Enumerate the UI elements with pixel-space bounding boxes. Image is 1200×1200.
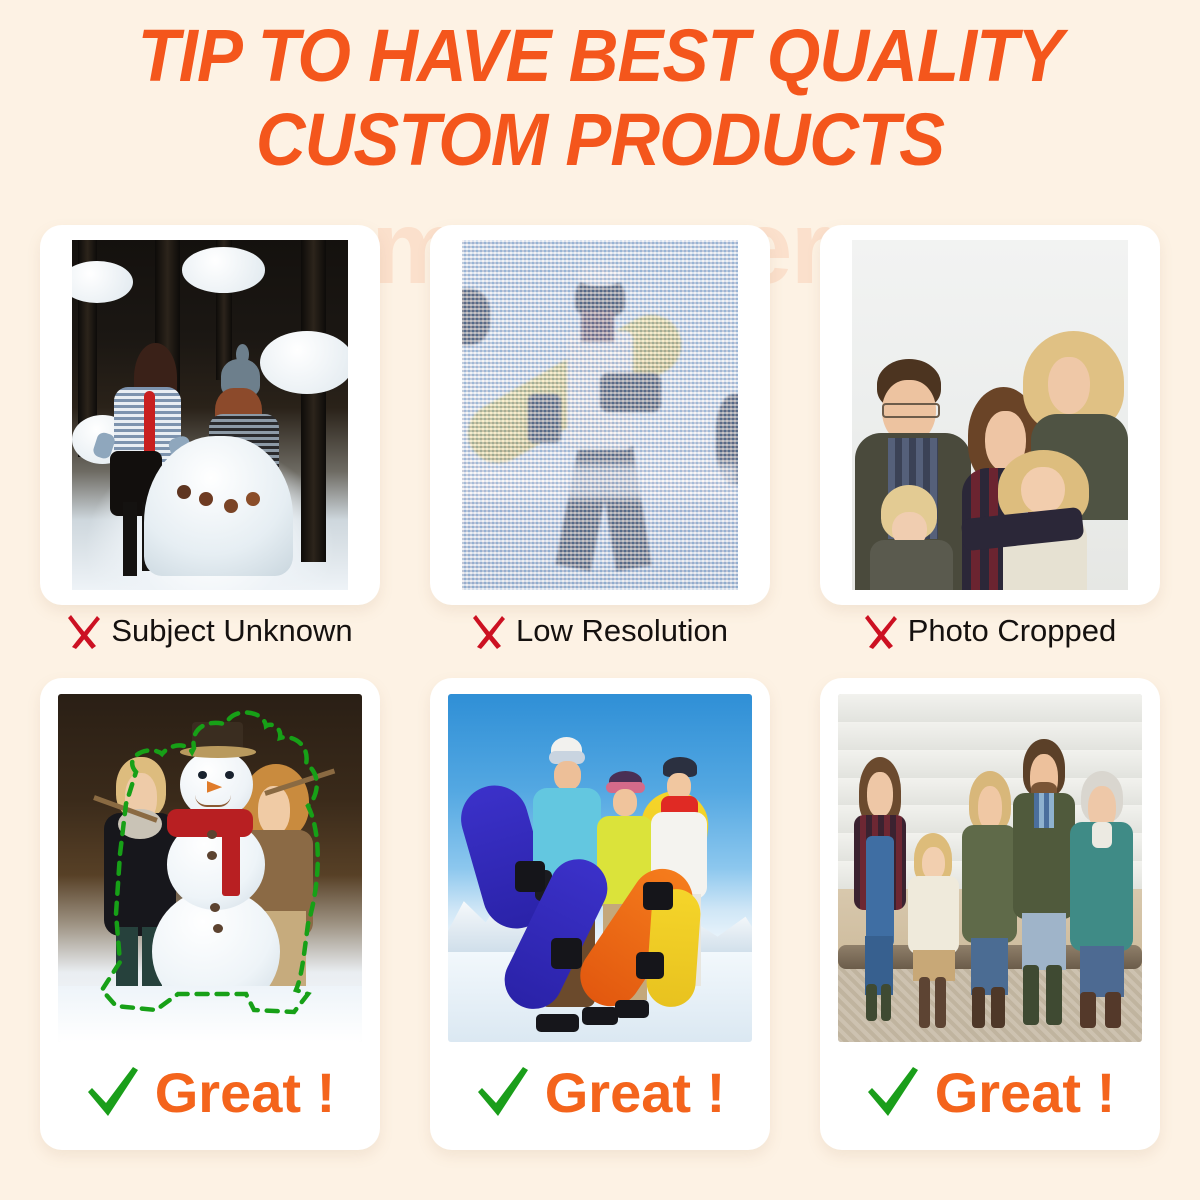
good-label-snowboarders: Great ! [430, 1050, 770, 1134]
label-text: Low Resolution [516, 613, 728, 649]
photo-subject-unknown [72, 240, 348, 590]
photo-great-family [838, 694, 1142, 1042]
photo-photo-cropped [852, 240, 1128, 590]
check-mark-icon [865, 1065, 921, 1119]
good-label-snowman: Great ! [40, 1050, 380, 1134]
great-text: Great ! [545, 1060, 726, 1125]
x-mark-icon [864, 613, 898, 649]
label-text: Photo Cropped [908, 613, 1117, 649]
great-text: Great ! [935, 1060, 1116, 1125]
good-example-card-family[interactable]: Great ! [820, 678, 1160, 1150]
check-mark-icon [85, 1065, 141, 1119]
good-example-card-snowboarders[interactable]: Great ! [430, 678, 770, 1150]
x-mark-icon [472, 613, 506, 649]
bad-example-card-low-resolution[interactable] [430, 225, 770, 605]
photo-low-resolution [462, 240, 738, 590]
cutout-outline-dashed [58, 694, 362, 1042]
photo-great-snowboarders [448, 694, 752, 1042]
bad-example-card-photo-cropped[interactable] [820, 225, 1160, 605]
label-text: Subject Unknown [111, 613, 352, 649]
photo-great-snowman [58, 694, 362, 1042]
examples-grid: Subject Unknown [0, 0, 1200, 1200]
good-example-card-snowman[interactable]: Great ! [40, 678, 380, 1150]
x-mark-icon [67, 613, 101, 649]
bad-example-card-subject-unknown[interactable] [40, 225, 380, 605]
label-low-resolution: Low Resolution [430, 608, 770, 654]
great-text: Great ! [155, 1060, 336, 1125]
label-subject-unknown: Subject Unknown [40, 608, 380, 654]
label-photo-cropped: Photo Cropped [820, 608, 1160, 654]
check-mark-icon [475, 1065, 531, 1119]
good-label-family: Great ! [820, 1050, 1160, 1134]
